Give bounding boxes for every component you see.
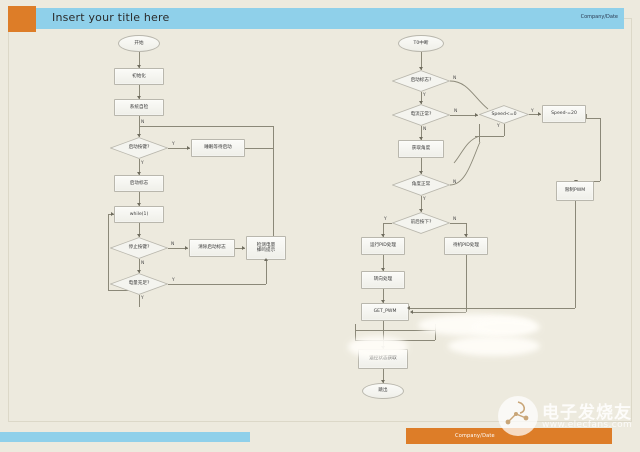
node-label: 开始: [134, 41, 143, 46]
connector: [355, 330, 435, 331]
arrow-head: [187, 146, 190, 150]
node-label: 电量充足?: [129, 281, 150, 286]
node-t0-interrupt[interactable]: T0中断: [398, 35, 444, 52]
arrow-head: [538, 112, 541, 116]
erased-region: [448, 336, 540, 356]
node-initialize[interactable]: 初始化: [114, 68, 164, 85]
node-run-pid-process[interactable]: 运行PID处理: [361, 237, 405, 255]
node-label: while(1): [130, 212, 149, 217]
node-set-start-flag[interactable]: 启动标志: [114, 175, 164, 192]
connector: [266, 260, 267, 284]
connector: [586, 118, 600, 119]
node-label: 清除启动标志: [198, 245, 226, 250]
watermark-circuit-icon: [498, 396, 538, 436]
node-label: 启动按键?: [129, 145, 150, 150]
node-standby-pid-process[interactable]: 待机PID处理: [444, 237, 488, 255]
page-title[interactable]: Insert your title here: [52, 11, 169, 24]
connector: [575, 201, 576, 308]
connector: [139, 295, 140, 307]
erased-region: [470, 318, 540, 336]
node-sleep-wait-start[interactable]: 睡眠等待启动: [191, 139, 245, 157]
node-battery-sufficient-decision[interactable]: 电量充足?: [110, 273, 168, 295]
connector: [355, 324, 356, 340]
connector: [450, 115, 478, 116]
edge-label: N: [453, 217, 456, 222]
connector-loopback: [139, 126, 274, 127]
edge-label: N: [171, 242, 174, 247]
node-get-pwm[interactable]: GET_PWM: [361, 303, 409, 321]
edge-label: Y: [172, 142, 175, 147]
connector: [409, 308, 575, 309]
watermark-url: www.elecfans.com: [542, 420, 632, 430]
node-limit-pwm[interactable]: 限制PWM: [556, 181, 594, 201]
edge-label: Y: [172, 278, 175, 283]
connector: [466, 255, 467, 312]
node-forward-back-pressed-decision[interactable]: 前后按下?: [392, 212, 450, 234]
node-label: 跳出: [378, 388, 387, 393]
connector: [600, 118, 601, 181]
node-label: 检测电量 蜂鸣提示: [257, 243, 275, 254]
connector: [450, 223, 466, 224]
node-battery-check-beep[interactable]: 检测电量 蜂鸣提示: [246, 236, 286, 260]
node-get-angle[interactable]: 获取角度: [398, 140, 444, 158]
node-label: T0中断: [414, 41, 429, 46]
node-label: 睡眠等待启动: [204, 145, 232, 150]
node-angle-normal-decision[interactable]: 角度正常: [392, 174, 450, 196]
node-label: 停止按键?: [129, 245, 150, 250]
connector: [504, 124, 505, 136]
node-steering-process[interactable]: 转向处理: [361, 271, 405, 289]
arrow-head: [410, 310, 413, 314]
node-start-key-decision[interactable]: 启动按键?: [110, 137, 168, 159]
edge-label: N: [423, 127, 426, 132]
node-label: Speed-=20: [551, 111, 577, 116]
edge-label: Y: [497, 124, 500, 129]
node-label: 初始化: [132, 74, 146, 79]
connector: [108, 214, 109, 290]
arrow-head: [242, 246, 245, 250]
connector: [479, 124, 480, 142]
node-label: 运行PID处理: [370, 243, 396, 248]
header-accent-square: [8, 6, 36, 32]
node-while-loop[interactable]: while(1): [114, 206, 164, 223]
connector: [383, 223, 392, 224]
node-label: 启动标志: [130, 181, 148, 186]
node-label: 启动标志?: [411, 78, 432, 83]
slide-canvas: Insert your title here Company/Date 开始 初…: [0, 0, 640, 452]
connector-curve: [448, 140, 482, 188]
edge-label: Y: [531, 109, 534, 114]
node-label: 角度正常: [412, 182, 430, 187]
node-system-selftest[interactable]: 系统自检: [114, 99, 164, 116]
node-start-flag-decision[interactable]: 启动标志?: [392, 70, 450, 92]
connector-loopback: [273, 126, 274, 236]
edge-label: N: [141, 120, 144, 125]
arrow-head: [111, 212, 114, 216]
connector: [168, 284, 266, 285]
watermark: 电子发烧友 www.elecfans.com: [498, 394, 636, 448]
node-label: 电流正常?: [411, 112, 432, 117]
arrow-head: [185, 246, 188, 250]
connector: [245, 148, 273, 149]
node-label: 转向处理: [374, 277, 392, 282]
node-label: 系统自检: [130, 105, 148, 110]
slide-content-border: [8, 18, 632, 422]
edge-label: Y: [423, 93, 426, 98]
edge-label: N: [454, 109, 457, 114]
footer-band-blue: [0, 432, 250, 442]
node-exit[interactable]: 跳出: [362, 383, 404, 399]
node-speed-le-zero-decision[interactable]: Speed<=0: [479, 105, 529, 124]
node-label: Speed<=0: [491, 112, 516, 117]
watermark-logo-icon: [498, 396, 538, 436]
edge-label: Y: [423, 197, 426, 202]
node-label: GET_PWM: [374, 309, 397, 314]
node-stop-key-decision[interactable]: 停止按键?: [110, 237, 168, 259]
edge-label: N: [141, 261, 144, 266]
footer-company-date: Company/Date: [455, 433, 495, 439]
arrow-head: [264, 258, 268, 261]
edge-label: Y: [384, 217, 387, 222]
node-current-normal-decision[interactable]: 电流正常?: [392, 104, 450, 126]
node-speed-decrement[interactable]: Speed-=20: [542, 105, 586, 123]
arrow-head: [407, 306, 410, 310]
node-label: 限制PWM: [565, 188, 585, 193]
node-clear-start-flag[interactable]: 清除启动标志: [189, 239, 235, 257]
node-label: 获取角度: [412, 146, 430, 151]
node-start[interactable]: 开始: [118, 35, 160, 52]
connector: [412, 312, 466, 313]
edge-label: Y: [141, 161, 144, 166]
edge-label: Y: [141, 296, 144, 301]
node-label: 待机PID处理: [453, 243, 479, 248]
arrow-head: [475, 113, 478, 117]
erased-region: [348, 336, 408, 358]
node-label: 前后按下?: [411, 220, 432, 225]
header-company-date: Company/Date: [581, 14, 618, 20]
